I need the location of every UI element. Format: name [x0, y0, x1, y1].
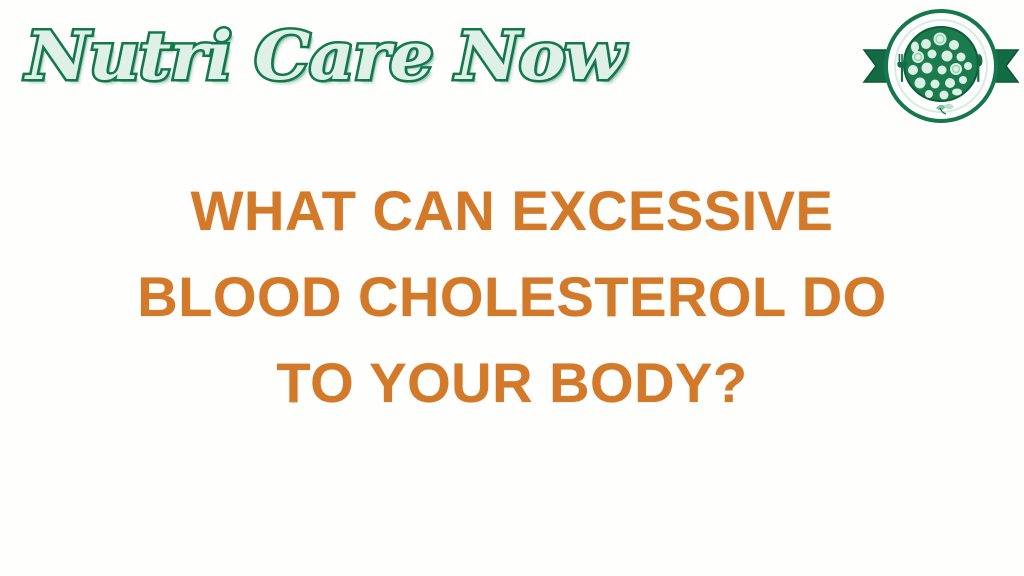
headline-line-3: TO YOUR BODY? [0, 340, 1024, 426]
brand-wordmark: Nutri Care Now [26, 14, 624, 98]
headline-line-1: WHAT CAN EXCESSIVE [0, 168, 1024, 254]
headline-block: WHAT CAN EXCESSIVE BLOOD CHOLESTEROL DO … [0, 168, 1024, 426]
logo-badge-icon [858, 2, 1024, 130]
slide-canvas: Nutri Care Now [0, 0, 1024, 576]
brand-emblem-logo [858, 2, 1024, 130]
headline-line-2: BLOOD CHOLESTEROL DO [0, 254, 1024, 340]
